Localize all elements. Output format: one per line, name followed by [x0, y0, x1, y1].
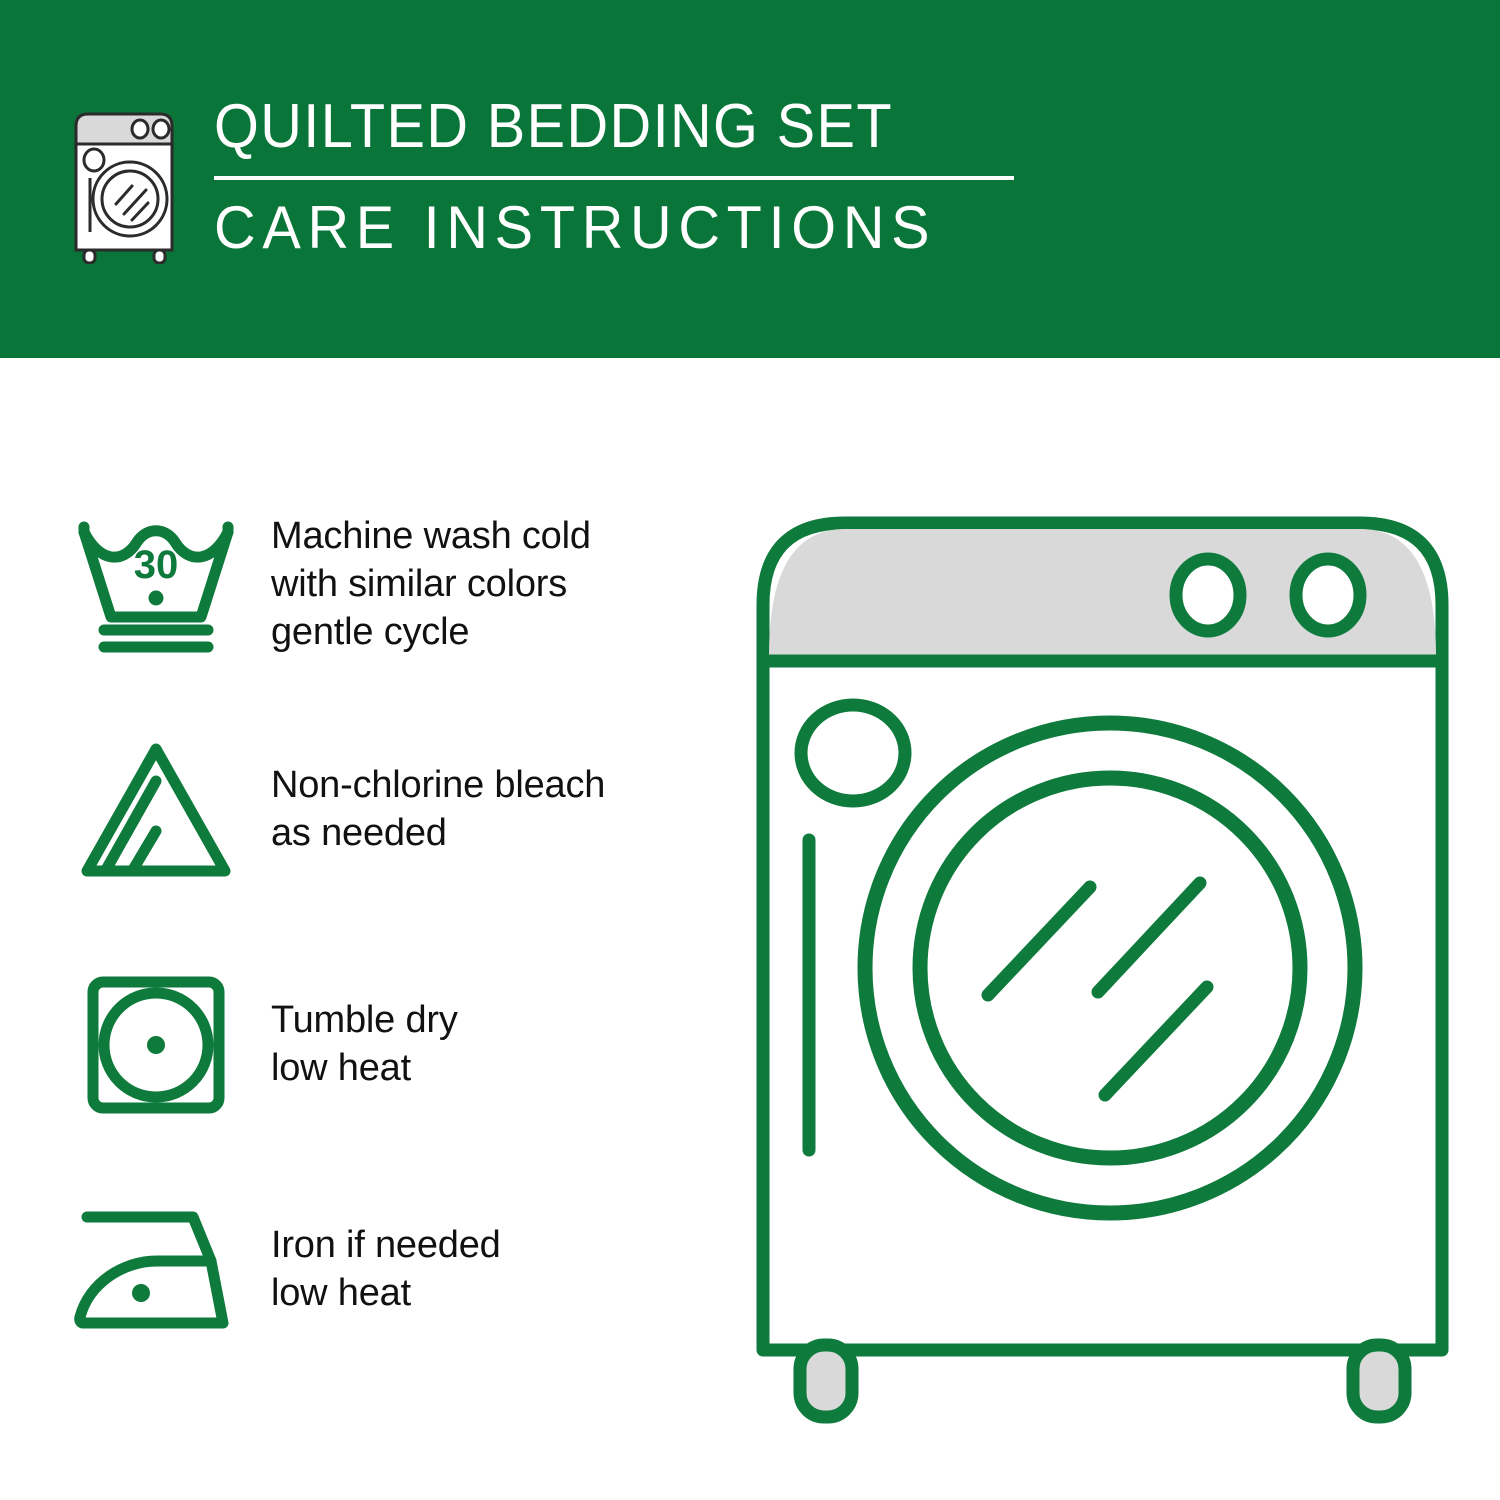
tumble-dry-low-heat-symbol: [68, 970, 243, 1120]
care-row: Tumble dry low heat: [0, 970, 740, 1120]
care-label: Non-chlorine bleach as needed: [271, 762, 605, 858]
machine-wash-30-gentle-symbol: 30: [68, 510, 243, 660]
page-title: QUILTED BEDDING SET: [214, 96, 967, 158]
header-text-block: QUILTED BEDDING SET CARE INSTRUCTIONS: [214, 96, 1024, 259]
front-load-washing-machine-illustration: [745, 495, 1460, 1425]
header-band: QUILTED BEDDING SET CARE INSTRUCTIONS: [0, 0, 1500, 358]
svg-text:30: 30: [133, 543, 178, 587]
header-divider: [214, 176, 1014, 180]
washing-machine-icon: [62, 104, 192, 264]
care-row: Non-chlorine bleach as needed: [0, 735, 740, 885]
care-row: 30 Machine wash cold with similar colors…: [0, 510, 740, 660]
iron-low-heat-symbol: [68, 1195, 243, 1345]
non-chlorine-bleach-triangle-symbol: [68, 735, 243, 885]
care-label: Tumble dry low heat: [271, 997, 458, 1093]
page-subtitle: CARE INSTRUCTIONS: [214, 196, 992, 259]
care-label: Machine wash cold with similar colors ge…: [271, 513, 591, 657]
care-row: Iron if needed low heat: [0, 1195, 740, 1345]
care-label: Iron if needed low heat: [271, 1222, 501, 1318]
